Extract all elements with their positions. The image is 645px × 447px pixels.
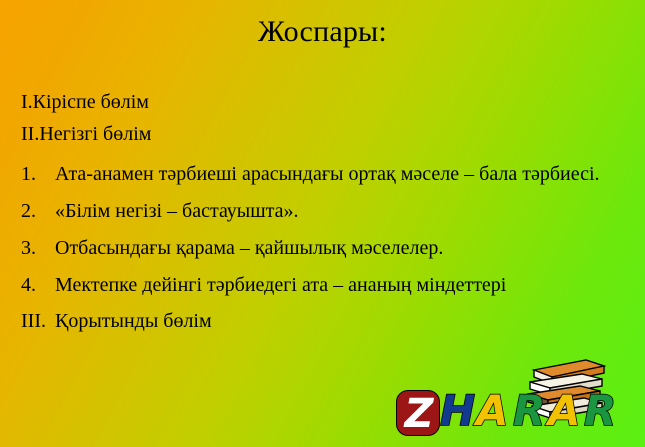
outline-numbered-list: 1. Ата-анамен тәрбиеші арасындағы ортақ …	[0, 161, 645, 335]
logo-letter-r-2: R	[584, 388, 616, 434]
logo-letter-r-1: R	[513, 388, 545, 434]
list-item-marker: 1.	[21, 161, 55, 188]
list-item: III. Қорытынды бөлім	[0, 308, 645, 335]
list-item-marker: 3.	[21, 235, 55, 262]
presentation-slide: Жоспары: I.Кіріспе бөлім II.Негізгі бөлі…	[0, 0, 645, 447]
slide-body: I.Кіріспе бөлім II.Негізгі бөлім 1. Ата-…	[0, 86, 645, 335]
zharar-logo: Z H A R A R	[396, 356, 645, 447]
list-item-marker: 2.	[21, 198, 55, 225]
outline-line-main: II.Негізгі бөлім	[0, 118, 645, 150]
list-item: 1. Ата-анамен тәрбиеші арасындағы ортақ …	[0, 161, 645, 188]
list-item-marker: 4.	[21, 272, 55, 299]
list-item-marker: III.	[21, 308, 55, 335]
list-item: 4. Мектепке дейінгі тәрбиедегі ата – ана…	[0, 272, 645, 299]
list-item-text: Отбасындағы қарама – қайшылық мәселелер.	[55, 237, 443, 259]
logo-letter-z-badge: Z	[396, 390, 440, 436]
logo-letter-z: Z	[397, 388, 441, 440]
logo-letter-h: H	[440, 388, 475, 434]
outline-line-intro: I.Кіріспе бөлім	[0, 86, 645, 118]
logo-letter-a-1: A	[476, 388, 509, 434]
list-item-text: «Білім негізі – бастауышта».	[55, 200, 299, 222]
slide-title: Жоспары:	[0, 14, 645, 50]
list-item-text: Ата-анамен тәрбиеші арасындағы ортақ мәс…	[55, 163, 600, 185]
logo-letter-a-2: A	[548, 388, 581, 434]
list-item: 3. Отбасындағы қарама – қайшылық мәселел…	[0, 235, 645, 262]
list-item: 2. «Білім негізі – бастауышта».	[0, 198, 645, 225]
logo-lettering: Z H A R A R	[396, 388, 645, 447]
list-item-text: Қорытынды бөлім	[55, 310, 212, 332]
list-item-text: Мектепке дейінгі тәрбиедегі ата – ананың…	[55, 274, 506, 296]
